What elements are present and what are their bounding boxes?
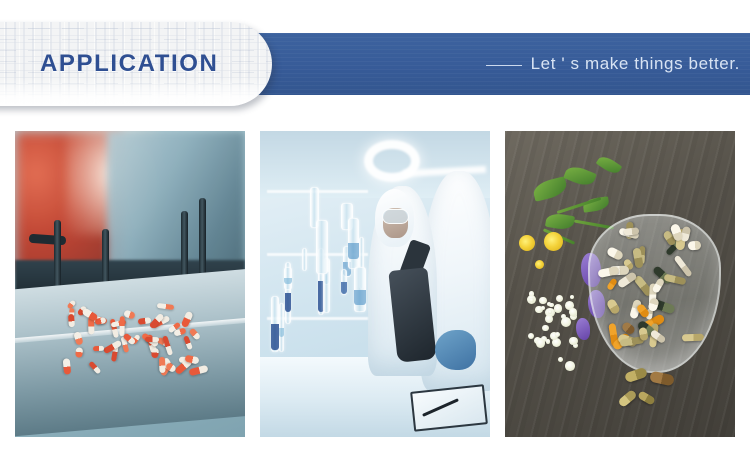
photo2-tube-liquid <box>348 243 359 259</box>
photo3-white-flower <box>536 338 546 348</box>
photo3-white-flower <box>569 308 577 316</box>
photo1-capsule <box>119 316 124 336</box>
photo-herbal-supplement-capsules[interactable] <box>505 131 735 437</box>
photo3-white-flower <box>542 325 548 331</box>
photo3-capsule <box>605 246 623 262</box>
photo3-white-flower <box>545 315 553 323</box>
slogan-group: Let ' s make things better. <box>486 33 740 95</box>
photo2-glass-tube <box>302 248 307 271</box>
photo3-white-flower <box>529 298 534 303</box>
photo2-tube-liquid <box>285 293 292 313</box>
photo3-capsule <box>652 277 666 294</box>
photo2-glassware-rack <box>267 155 368 400</box>
application-image-gallery <box>15 131 735 437</box>
photo-laboratory-scientists[interactable] <box>260 131 490 437</box>
photo2-clipboard <box>410 384 487 431</box>
photo3-white-flower <box>569 337 577 345</box>
photo2-tube-liquid <box>341 282 347 294</box>
photo1-capsule <box>93 346 104 351</box>
photo2-tube-liquid <box>271 324 280 351</box>
photo3-purple-flower <box>576 318 590 340</box>
photo1-capsule <box>68 314 75 328</box>
slogan-rule-line <box>486 65 522 66</box>
application-section: APPLICATION Let ' s make things better. <box>0 0 750 461</box>
photo1-conveyor-belt <box>15 268 245 437</box>
photo3-white-flower <box>539 297 547 305</box>
section-header: APPLICATION Let ' s make things better. <box>0 33 750 95</box>
photo3-capsule <box>597 266 620 278</box>
photo3-capsule <box>606 298 621 315</box>
photo2-tube-liquid <box>354 290 366 305</box>
photo2-tube-liquid <box>284 278 292 283</box>
photo3-white-flower <box>565 361 575 371</box>
photo3-yellow-flower <box>544 232 563 251</box>
photo1-capsule <box>158 357 165 374</box>
photo2-blue-glove <box>435 330 476 370</box>
page-title: APPLICATION <box>40 50 219 78</box>
photo1-capsule <box>151 349 158 359</box>
section-title-plate: APPLICATION <box>0 22 272 106</box>
photo3-white-flower <box>556 295 563 302</box>
photo3-yellow-flower <box>519 235 535 251</box>
photo1-capsule <box>75 347 83 358</box>
slogan-text: Let ' s make things better. <box>531 54 740 74</box>
plate-gloss-highlight <box>0 77 272 106</box>
photo3-capsule <box>682 334 705 342</box>
photo2-tube-liquid <box>279 328 284 337</box>
photo2-safety-goggles <box>382 209 410 224</box>
photo3-yellow-flower <box>535 260 544 269</box>
photo-capsule-production-line[interactable] <box>15 131 245 437</box>
photo3-capsule <box>687 241 701 251</box>
photo2-glass-tube <box>316 220 328 274</box>
photo1-capsule <box>145 337 159 342</box>
photo3-capsule <box>674 255 693 278</box>
photo3-capsule <box>606 277 618 291</box>
